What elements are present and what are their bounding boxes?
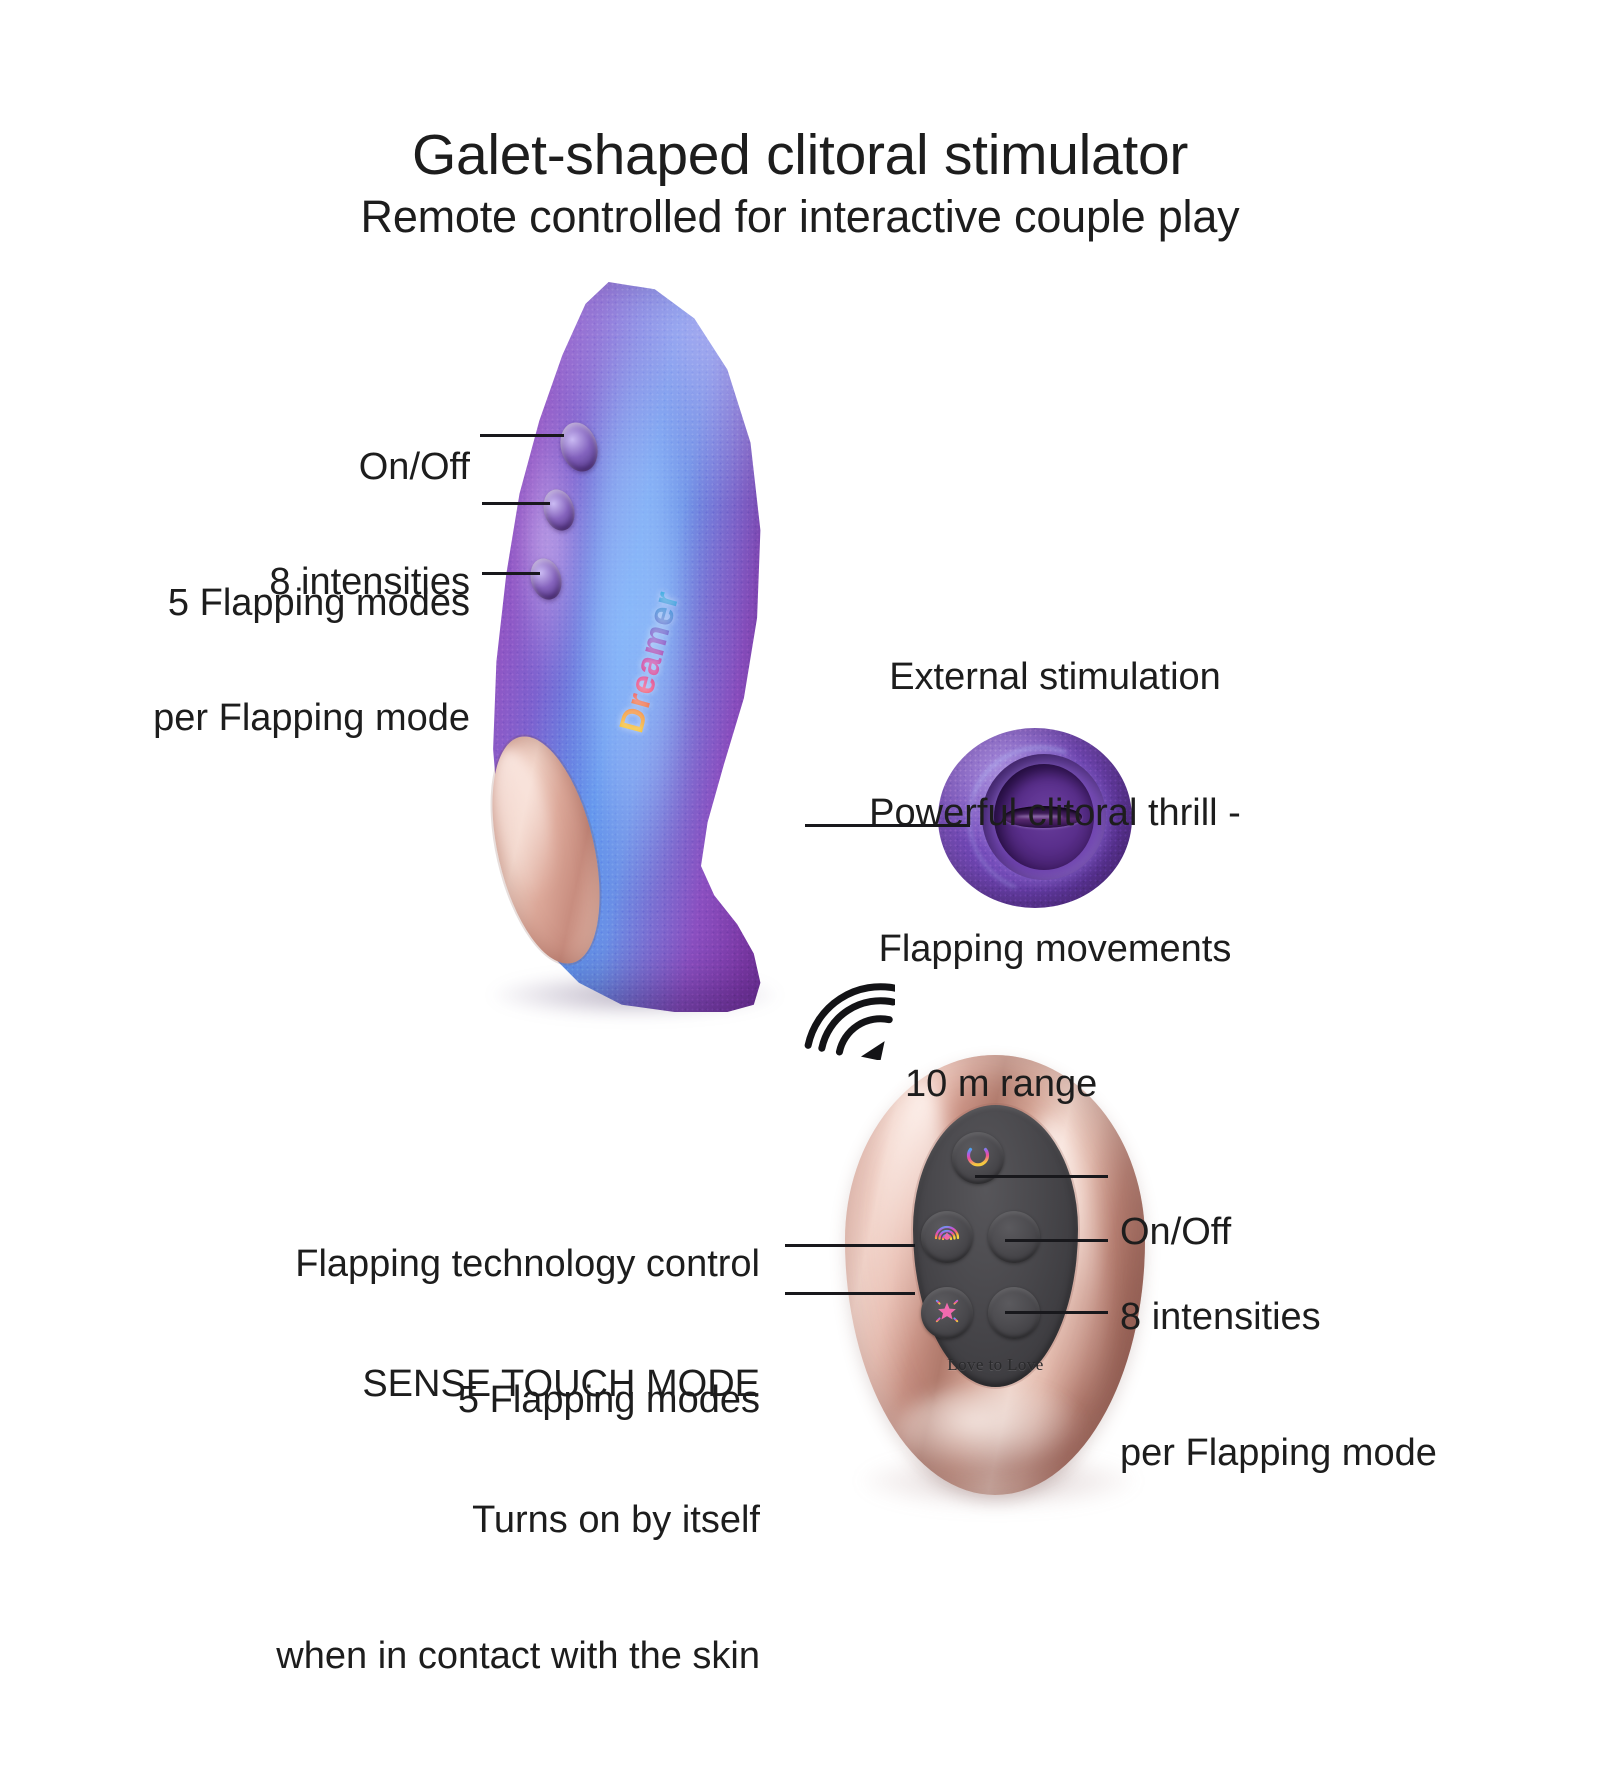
annotation-device-intensity-line2: per Flapping mode — [100, 696, 470, 741]
annotation-range-label: 10 m range — [905, 1062, 1205, 1107]
annotation-head-line2: Powerful clitoral thrill - — [855, 791, 1255, 836]
remote-brand-label: Love to Love — [913, 1355, 1078, 1375]
star-icon — [931, 1295, 963, 1332]
device-plate-gloss — [481, 743, 565, 901]
remote-flapping-modes-button[interactable] — [921, 1211, 973, 1263]
annotation-device-intensity-line1: 8 intensities — [100, 560, 470, 605]
plus-icon — [999, 1220, 1029, 1255]
product-device-illustration: Dreamer — [470, 282, 830, 1042]
annotation-head-line3: Flapping movements — [855, 927, 1255, 972]
leader-remote-modes — [785, 1244, 915, 1247]
page-subtitle: Remote controlled for interactive couple… — [0, 193, 1600, 240]
leader-remote-intensity-up — [1005, 1239, 1108, 1242]
remote-intensity-up-button[interactable] — [988, 1211, 1040, 1263]
remote-sense-touch-button[interactable] — [921, 1287, 973, 1339]
leader-device-power — [480, 434, 564, 437]
leader-head — [805, 824, 970, 827]
leader-remote-intensity-down — [1005, 1311, 1108, 1314]
remote-gloss-bottom — [897, 1385, 1087, 1475]
annotation-remote-intensity-line1: 8 intensities — [1120, 1295, 1550, 1340]
infographic-canvas: Galet-shaped clitoral stimulator Remote … — [0, 0, 1600, 1600]
leader-remote-power — [975, 1175, 1108, 1178]
spiral-icon — [931, 1219, 963, 1256]
leader-device-intensity-up — [482, 502, 550, 505]
page-title: Galet-shaped clitoral stimulator — [0, 126, 1600, 186]
leader-device-intensity-down — [482, 572, 540, 575]
annotation-remote-sense: SENSE TOUCH MODE Turns on by itself when… — [190, 1272, 760, 1769]
annotation-head-line1: External stimulation — [855, 655, 1255, 700]
annotation-remote-intensity-line2: per Flapping mode — [1120, 1431, 1550, 1476]
annotation-remote-sense-line2: Turns on by itself — [190, 1498, 760, 1543]
annotation-device-intensity: 8 intensities per Flapping mode — [100, 470, 470, 832]
annotation-remote-intensity: 8 intensities per Flapping mode — [1120, 1205, 1550, 1567]
annotation-remote-sense-line1: SENSE TOUCH MODE — [190, 1362, 760, 1407]
annotation-remote-sense-line3: when in contact with the skin — [190, 1634, 760, 1679]
leader-remote-sense — [785, 1292, 915, 1295]
